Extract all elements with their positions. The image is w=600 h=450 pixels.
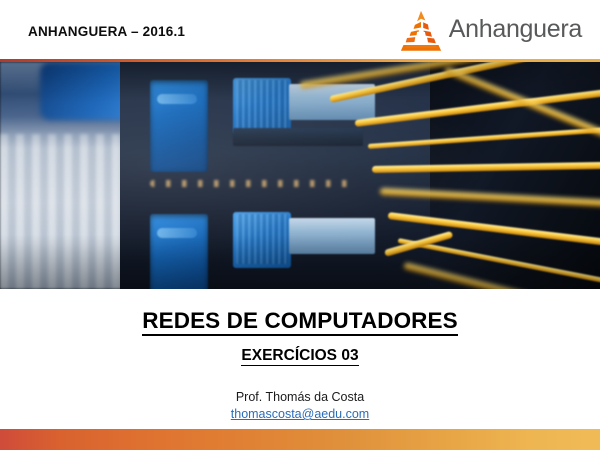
hero-connector-shadow: [233, 128, 363, 146]
hero-connector-latch: [157, 228, 197, 238]
slide-subtitle-text: EXERCÍCIOS 03: [241, 347, 358, 366]
slide-title-text: REDES DE COMPUTADORES: [142, 308, 457, 336]
slide-body: REDES DE COMPUTADORES EXERCÍCIOS 03 Prof…: [0, 289, 600, 429]
anhanguera-triangle-logo: [399, 10, 443, 52]
footer-accent-bar: [0, 429, 600, 450]
presentation-slide: ANHANGUERA – 2016.1 Anhanguera: [0, 0, 600, 450]
author-email-link[interactable]: thomascosta@aedu.com: [231, 404, 369, 421]
slide-header: ANHANGUERA – 2016.1 Anhanguera: [0, 0, 600, 61]
slide-subtitle: EXERCÍCIOS 03: [0, 334, 600, 365]
hero-image: [0, 62, 600, 289]
hero-connector-ridges: [236, 214, 288, 264]
anhanguera-wordmark: Anhanguera: [449, 17, 582, 45]
anhanguera-logo: Anhanguera: [399, 9, 582, 53]
hero-connector-ferrule: [289, 218, 375, 254]
hero-connector-blue: [150, 214, 208, 289]
hero-connector-ridges: [236, 80, 288, 130]
hero-connector-latch: [157, 94, 197, 104]
slide-title: REDES DE COMPUTADORES: [0, 289, 600, 334]
course-term-label: ANHANGUERA – 2016.1: [28, 24, 185, 39]
author-name: Prof. Thomás da Costa: [0, 365, 600, 404]
hero-panel-screw-row: [150, 180, 350, 187]
